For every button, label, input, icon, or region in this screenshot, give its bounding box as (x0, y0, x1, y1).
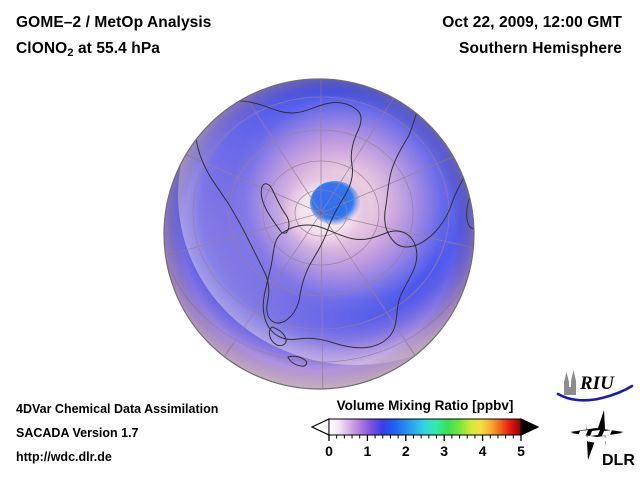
hemisphere-label: Southern Hemisphere (459, 40, 622, 58)
species-name: ClONO (16, 40, 67, 57)
page-title-instrument: GOME–2 / MetOp Analysis (16, 14, 212, 32)
dlr-wordmark: DLR (602, 452, 635, 469)
footer-method: 4DVar Chemical Data Assimilation (16, 402, 218, 416)
riu-logo: RIU (556, 369, 636, 403)
page-title-species: ClONO2 at 55.4 hPa (16, 40, 160, 59)
south-pole-marker (319, 211, 322, 214)
footer-version: SACADA Version 1.7 (16, 426, 139, 440)
orthographic-projection-svg (160, 75, 478, 393)
colorbar-tick-label: 5 (517, 443, 525, 459)
colorbar-tick-label: 1 (364, 443, 372, 459)
limb-shading (164, 79, 474, 389)
visualization-page: GOME–2 / MetOp Analysis ClONO2 at 55.4 h… (0, 0, 640, 480)
colorbar-over-arrow (521, 419, 538, 435)
dlr-logo: DLR (566, 408, 636, 470)
footer-url[interactable]: http://wdc.dlr.de (16, 450, 112, 464)
colorbar-gradient (329, 419, 521, 435)
colorbar-svg: 012345 (300, 416, 550, 472)
colorbar-under-arrow (312, 419, 329, 435)
colorbar-ticks (329, 435, 521, 441)
colorbar-tick-label: 3 (440, 443, 448, 459)
colorbar: Volume Mixing Ratio [ppbv] 012345 (300, 398, 550, 472)
colorbar-tick-label: 4 (479, 443, 487, 459)
globe-map (160, 75, 478, 393)
riu-logo-svg: RIU (556, 369, 636, 403)
colorbar-tick-label: 0 (325, 443, 333, 459)
riu-wordmark: RIU (579, 373, 615, 394)
cathedral-spire-icon (564, 370, 576, 395)
colorbar-title: Volume Mixing Ratio [ppbv] (300, 398, 550, 413)
observation-datetime: Oct 22, 2009, 12:00 GMT (442, 14, 622, 32)
dlr-logo-svg: DLR (566, 408, 636, 470)
species-level: at 55.4 hPa (74, 40, 161, 57)
colorbar-tick-label: 2 (402, 443, 410, 459)
colorbar-tick-labels: 012345 (325, 443, 525, 459)
